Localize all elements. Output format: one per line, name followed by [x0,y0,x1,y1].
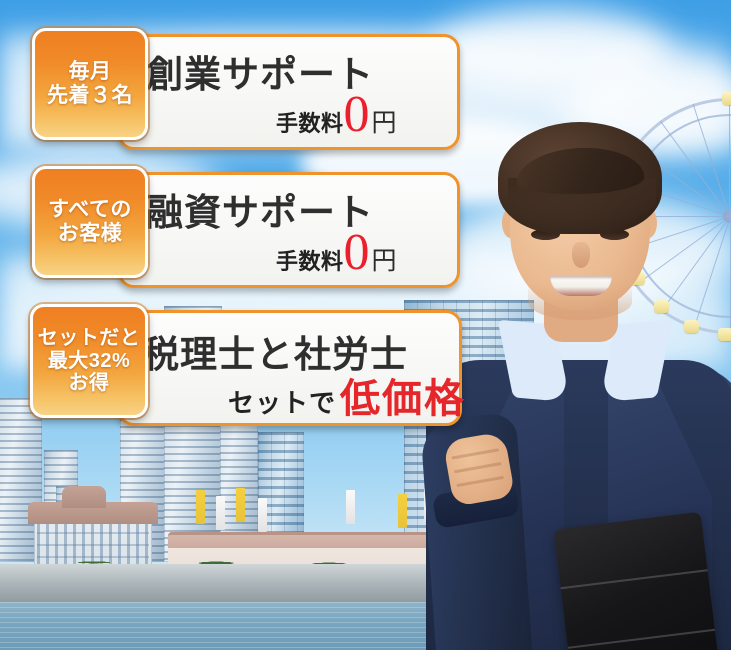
badge-line: すべての [48,198,132,222]
promo-banner: 創業サポート 手数料 0 円 毎月 先着３名 融資サポート 手数料 0 円 すべ… [0,0,731,650]
fee-value: 0 [344,92,370,139]
subline-prefix: セットで [228,383,336,420]
badge-line: 毎月 [69,60,112,84]
offer-title-2: 融資サポート [146,182,374,236]
offer-fee-1: 手数料 0 円 [276,92,397,139]
fee-label: 手数料 [276,106,344,138]
offer-badge-2: すべての お客様 [32,166,148,278]
badge-line: お客様 [58,222,123,246]
badge-line: 先着３名 [47,84,133,108]
offer-title-1: 創業サポート [146,44,374,98]
fee-unit: 円 [372,241,397,277]
offer-badge-3: セットだと 最大32% お得 [30,304,148,418]
offer-badge-1: 毎月 先着３名 [32,28,148,140]
fee-unit: 円 [372,103,397,139]
badge-line: お得 [69,372,110,394]
fee-label: 手数料 [276,244,344,276]
fee-value: 0 [344,230,370,277]
badge-line: 最大32% [48,350,131,372]
offer-fee-2: 手数料 0 円 [276,230,397,277]
offer-subline-3: セットで 低価格 [228,366,466,424]
badge-line: セットだと [38,327,141,349]
subline-highlight: 低価格 [340,366,466,424]
